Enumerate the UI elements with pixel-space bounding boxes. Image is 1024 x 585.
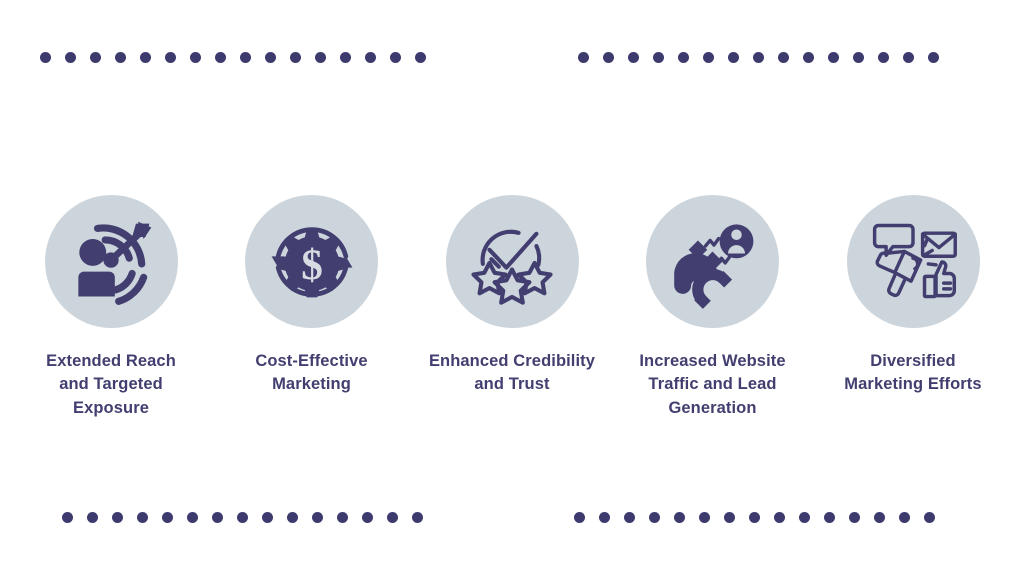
decorative-dot bbox=[824, 512, 835, 523]
decorative-dot bbox=[803, 52, 814, 63]
decorative-dot bbox=[699, 512, 710, 523]
decorative-dot bbox=[603, 52, 614, 63]
decorative-dot bbox=[724, 512, 735, 523]
decorative-dot-row-top-left bbox=[40, 52, 426, 63]
decorative-dot bbox=[574, 512, 585, 523]
decorative-dot bbox=[190, 52, 201, 63]
decorative-dot bbox=[140, 52, 151, 63]
decorative-dot bbox=[415, 52, 426, 63]
benefit-item-diversified: Diversified Marketing Efforts bbox=[818, 195, 1008, 420]
decorative-dot bbox=[365, 52, 376, 63]
decorative-dot bbox=[187, 512, 198, 523]
decorative-dot bbox=[212, 512, 223, 523]
decorative-dot bbox=[40, 52, 51, 63]
decorative-dot bbox=[924, 512, 935, 523]
magnet-user-icon bbox=[646, 195, 779, 328]
decorative-dot bbox=[624, 512, 635, 523]
benefit-item-label: Enhanced Credibility and Trust bbox=[429, 350, 595, 397]
svg-text:$: $ bbox=[301, 240, 323, 288]
decorative-dot bbox=[928, 52, 939, 63]
decorative-dot bbox=[799, 512, 810, 523]
decorative-dot bbox=[87, 512, 98, 523]
benefit-item-label: Diversified Marketing Efforts bbox=[844, 350, 981, 397]
decorative-dot bbox=[287, 512, 298, 523]
decorative-dot bbox=[849, 512, 860, 523]
decorative-dot bbox=[412, 512, 423, 523]
decorative-dot bbox=[137, 512, 148, 523]
decorative-dot bbox=[115, 52, 126, 63]
decorative-dot bbox=[312, 512, 323, 523]
decorative-dot bbox=[774, 512, 785, 523]
benefit-item-credibility: Enhanced Credibility and Trust bbox=[417, 195, 607, 420]
decorative-dot bbox=[290, 52, 301, 63]
decorative-dot-row-bottom-right bbox=[574, 512, 935, 523]
decorative-dot bbox=[749, 512, 760, 523]
person-target-dart-icon bbox=[45, 195, 178, 328]
infographic-canvas: Extended Reach and Targeted Exposure $ C… bbox=[0, 0, 1024, 585]
benefit-items-row: Extended Reach and Targeted Exposure $ C… bbox=[0, 195, 1024, 420]
benefit-item-extended-reach: Extended Reach and Targeted Exposure bbox=[16, 195, 206, 420]
decorative-dot bbox=[62, 512, 73, 523]
decorative-dot bbox=[628, 52, 639, 63]
decorative-dot bbox=[778, 52, 789, 63]
decorative-dot bbox=[578, 52, 589, 63]
decorative-dot bbox=[340, 52, 351, 63]
checkmark-stars-icon bbox=[446, 195, 579, 328]
decorative-dot bbox=[337, 512, 348, 523]
decorative-dot bbox=[240, 52, 251, 63]
decorative-dot bbox=[674, 512, 685, 523]
decorative-dot bbox=[362, 512, 373, 523]
benefit-item-label: Extended Reach and Targeted Exposure bbox=[46, 350, 176, 420]
decorative-dot-row-top-right bbox=[578, 52, 939, 63]
decorative-dot bbox=[874, 512, 885, 523]
decorative-dot bbox=[237, 512, 248, 523]
decorative-dot-row-bottom-left bbox=[62, 512, 423, 523]
decorative-dot bbox=[899, 512, 910, 523]
benefit-item-label: Cost-Effective Marketing bbox=[255, 350, 367, 397]
decorative-dot bbox=[112, 512, 123, 523]
decorative-dot bbox=[599, 512, 610, 523]
benefit-item-website-traffic: Increased Website Traffic and Lead Gener… bbox=[618, 195, 808, 420]
benefit-item-cost-effective: $ Cost-Effective Marketing bbox=[217, 195, 407, 420]
megaphone-marketing-icon bbox=[847, 195, 980, 328]
decorative-dot bbox=[165, 52, 176, 63]
decorative-dot bbox=[753, 52, 764, 63]
decorative-dot bbox=[315, 52, 326, 63]
decorative-dot bbox=[387, 512, 398, 523]
decorative-dot bbox=[678, 52, 689, 63]
decorative-dot bbox=[703, 52, 714, 63]
decorative-dot bbox=[649, 512, 660, 523]
gear-dollar-cycle-icon: $ bbox=[245, 195, 378, 328]
decorative-dot bbox=[215, 52, 226, 63]
decorative-dot bbox=[262, 512, 273, 523]
decorative-dot bbox=[65, 52, 76, 63]
decorative-dot bbox=[390, 52, 401, 63]
decorative-dot bbox=[853, 52, 864, 63]
decorative-dot bbox=[653, 52, 664, 63]
decorative-dot bbox=[903, 52, 914, 63]
decorative-dot bbox=[90, 52, 101, 63]
decorative-dot bbox=[265, 52, 276, 63]
decorative-dot bbox=[828, 52, 839, 63]
decorative-dot bbox=[878, 52, 889, 63]
benefit-item-label: Increased Website Traffic and Lead Gener… bbox=[639, 350, 785, 420]
decorative-dot bbox=[728, 52, 739, 63]
decorative-dot bbox=[162, 512, 173, 523]
